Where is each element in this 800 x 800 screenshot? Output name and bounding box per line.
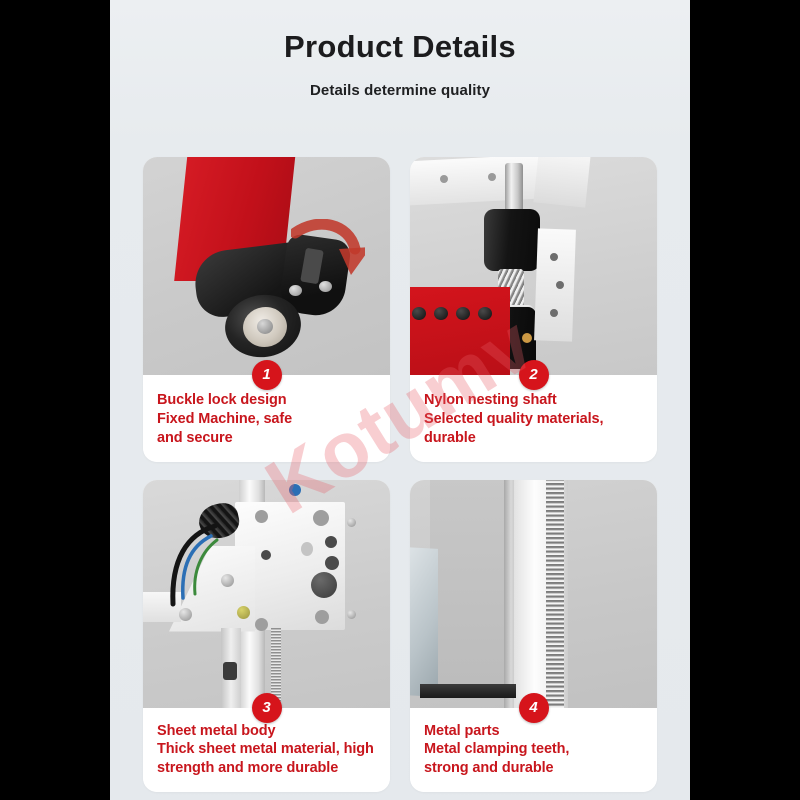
caption-line: strength and more durable (157, 759, 376, 778)
caption-line: Buckle lock design (157, 391, 376, 410)
page-header: Product Details Details determine qualit… (110, 0, 690, 99)
large-disk-shape (311, 572, 337, 598)
blue-fitting-shape (289, 484, 301, 496)
caption-line: and secure (157, 429, 376, 448)
caption-line: Fixed Machine, safe (157, 410, 376, 429)
wiring-harness-shape (157, 520, 227, 620)
caption-line: Sheet metal body (157, 722, 376, 741)
wheel-hub-bolt-shape (257, 319, 273, 334)
lower-fitting-shape (223, 662, 237, 680)
left-metal-panel-shape (410, 547, 438, 697)
caption-line: durable (424, 429, 643, 448)
screw-head-shape (237, 606, 250, 619)
screw-head-shape (347, 518, 356, 527)
badge-number: 1 (252, 360, 282, 390)
badge-number: 2 (519, 360, 549, 390)
caster-bolt-shape (289, 285, 302, 296)
badge-number: 3 (252, 693, 282, 723)
caption-line: Thick sheet metal material, high (157, 740, 376, 759)
page-subtitle: Details determine quality (110, 82, 690, 99)
base-foot-shape (420, 684, 516, 698)
chrome-shaft-shape (505, 163, 523, 215)
screw-hole-shape (550, 253, 558, 261)
nylon-housing-upper-shape (484, 209, 540, 271)
badge-number: 4 (519, 693, 549, 723)
mounting-hole-shape (261, 550, 271, 560)
control-knob-shape (478, 307, 492, 320)
details-card-grid: 1 Buckle lock design Fixed Machine, safe… (143, 157, 657, 792)
page-title: Product Details (110, 30, 690, 64)
screw-head-shape (221, 574, 234, 587)
caption-line: Metal clamping teeth, (424, 740, 643, 759)
red-control-panel-shape (410, 287, 510, 375)
screw-hole-shape (556, 281, 564, 289)
control-knob-shape (456, 307, 470, 320)
caption-line: Metal parts (424, 722, 643, 741)
content-column: Product Details Details determine qualit… (110, 0, 690, 800)
screw-head-shape (440, 175, 448, 183)
control-knob-shape (434, 307, 448, 320)
mounting-hole-shape (255, 618, 268, 631)
mounting-hole-shape (255, 510, 268, 523)
screw-head-shape (179, 608, 192, 621)
screw-head-shape (488, 173, 496, 181)
caption-line: strong and durable (424, 759, 643, 778)
mounting-hole-shape (301, 542, 313, 556)
metal-clamping-teeth-photo (410, 480, 657, 708)
control-knob-shape (412, 307, 426, 320)
product-details-page: Product Details Details determine qualit… (0, 0, 800, 800)
caster-bolt-shape (319, 281, 332, 292)
rotation-arrow-icon (291, 219, 365, 279)
mounting-hole-shape (325, 536, 337, 548)
clamping-teeth-rack-shape (546, 480, 564, 708)
screw-head-shape (347, 610, 356, 619)
detail-card-nylon-shaft[interactable]: 2 Nylon nesting shaft Selected quality m… (410, 157, 657, 462)
mounting-hole-shape (325, 556, 339, 570)
side-bracket-shape (534, 228, 576, 341)
top-plate-right-shape (533, 157, 590, 208)
detail-card-buckle-lock[interactable]: 1 Buckle lock design Fixed Machine, safe… (143, 157, 390, 462)
screw-hole-shape (550, 309, 558, 317)
caption-line: Selected quality materials, (424, 410, 643, 429)
detail-card-metal-parts[interactable]: 4 Metal parts Metal clamping teeth, stro… (410, 480, 657, 793)
indicator-lamp-shape (522, 333, 532, 343)
caption-line: Nylon nesting shaft (424, 391, 643, 410)
detail-card-sheet-metal-body[interactable]: 3 Sheet metal body Thick sheet metal mat… (143, 480, 390, 793)
caster-wheel-buckle-lock-photo (143, 157, 390, 375)
nylon-nesting-shaft-photo (410, 157, 657, 375)
sheet-metal-body-photo (143, 480, 390, 708)
mounting-hole-shape (315, 610, 329, 624)
mounting-hole-shape (313, 510, 329, 526)
